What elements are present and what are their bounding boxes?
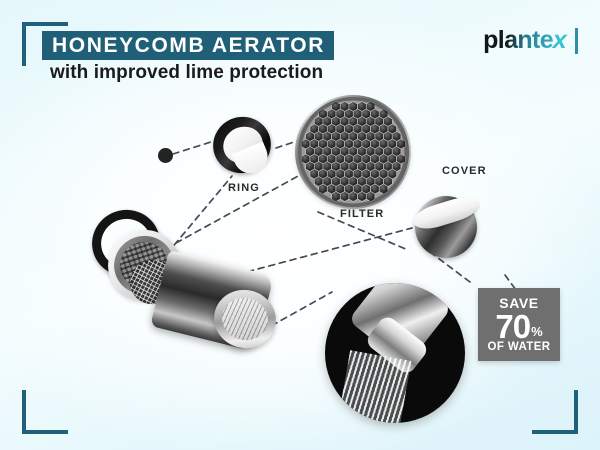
filter-disc [297,97,409,207]
photo-water-stream [337,350,412,423]
part-label-cover: COVER [442,165,487,177]
badge-percent-sign: % [531,325,543,341]
infographic-canvas: HONEYCOMB AERATOR with improved lime pro… [0,0,600,450]
aerator-assembly [86,206,276,366]
badge-footer-label: OF WATER [487,342,550,354]
badge-value: 70 [495,312,530,341]
product-photo-inset [325,283,465,423]
honeycomb-grid-icon [297,97,409,207]
save-water-badge: SAVE 70 % OF WATER [478,288,560,361]
connector-origin-dot [158,148,173,163]
part-label-filter: FILTER [340,208,384,220]
part-ring [213,117,273,175]
connector-dot-to-ring [173,141,214,154]
badge-value-row: 70 % [495,312,542,341]
part-cover [413,192,481,262]
part-label-ring: RING [228,182,260,194]
part-filter [297,97,409,207]
